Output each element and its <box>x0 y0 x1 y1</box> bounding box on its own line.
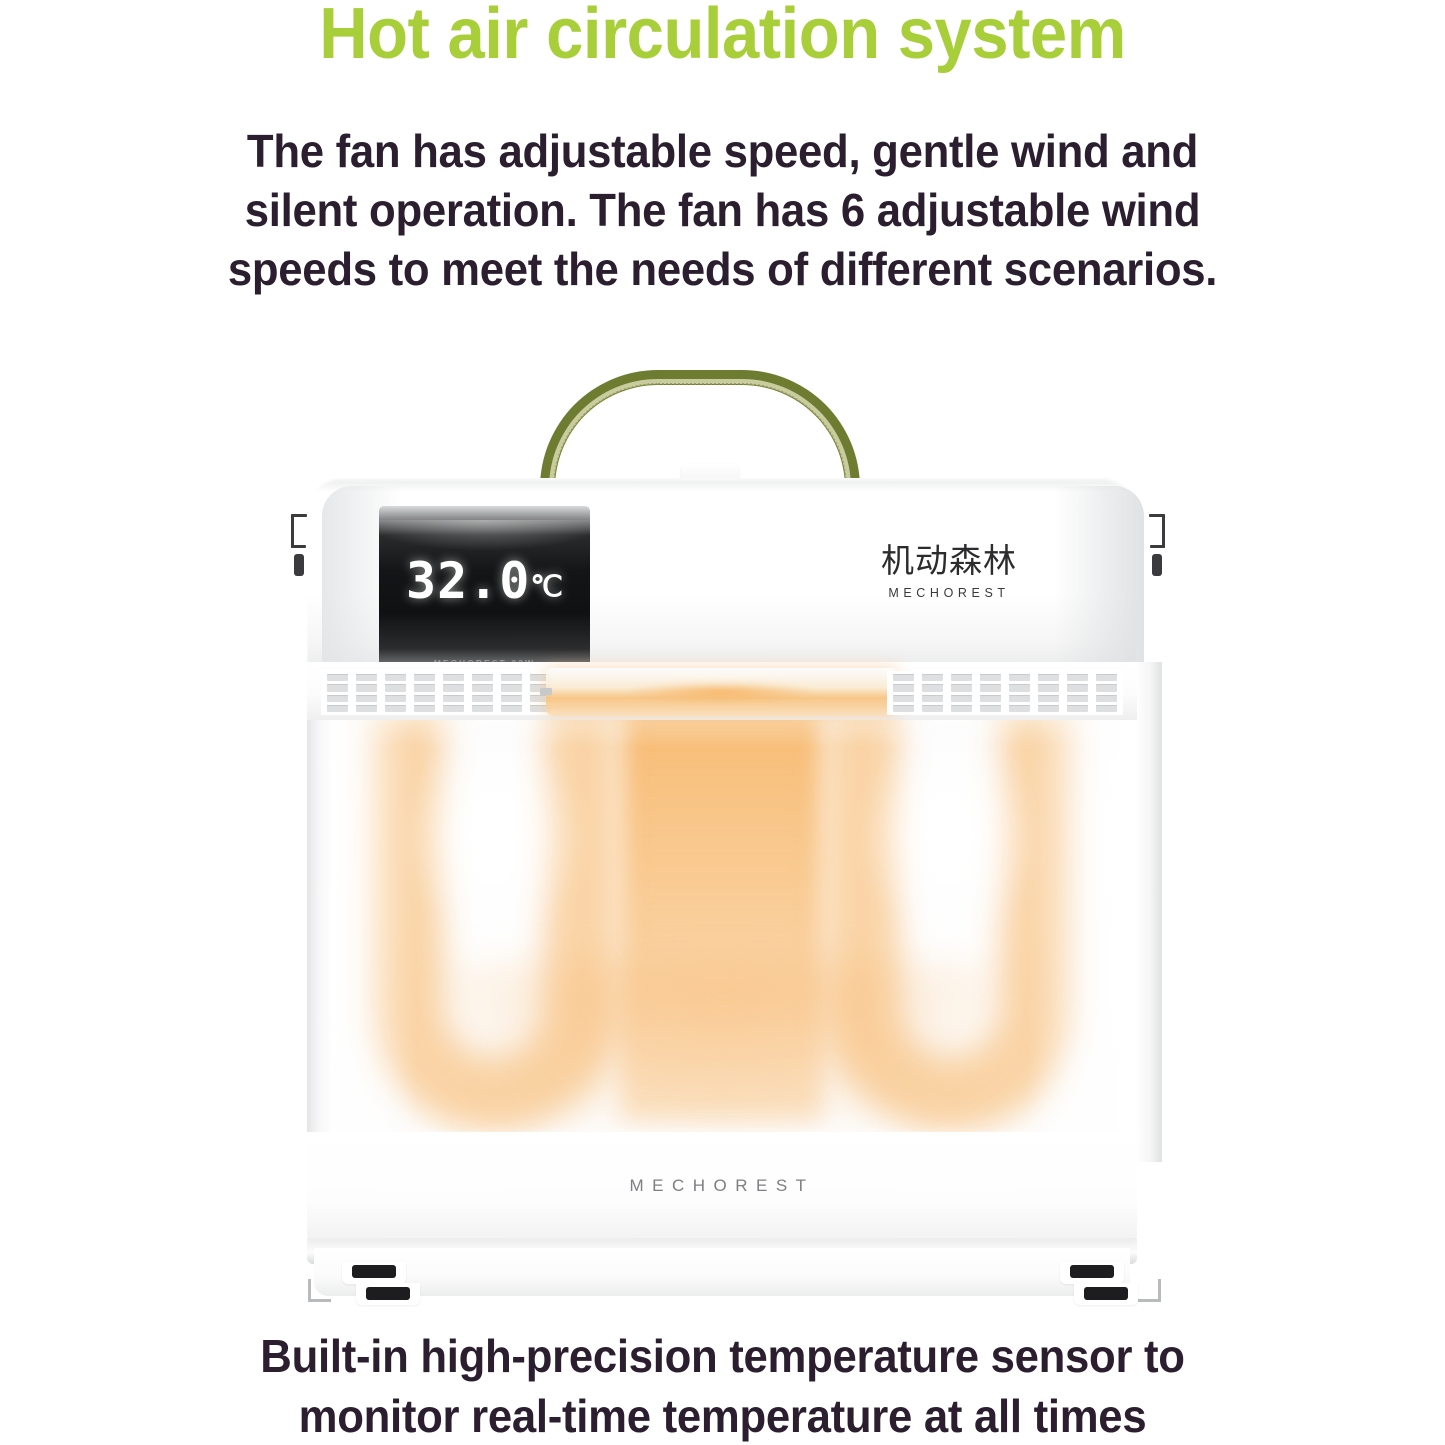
glass-edge-left <box>307 662 333 1162</box>
lower-front-panel: MECHOREST <box>307 1132 1137 1244</box>
airflow-lower-spread <box>392 962 1052 1152</box>
lid-highlight-right <box>1054 486 1144 670</box>
base-foot-back-left <box>352 1265 396 1278</box>
airflow-fade-right <box>1027 662 1137 1162</box>
subheading-line-3: speeds to meet the needs of different sc… <box>36 240 1409 299</box>
base-foot-front-left <box>366 1287 410 1300</box>
page-title: Hot air circulation system <box>51 0 1395 74</box>
vent-bar <box>307 662 1137 720</box>
footer-caption-line-2: monitor real-time temperature at all tim… <box>36 1387 1409 1445</box>
airflow-highlight-left <box>399 732 589 942</box>
lcd-display[interactable]: 32.0℃ MECHOREST 22W <box>379 506 590 678</box>
screen-glare <box>379 520 590 551</box>
bottom-brand-text: MECHOREST <box>307 1176 1137 1196</box>
temperature-unit: ℃ <box>530 569 563 603</box>
airflow-highlight-right <box>855 732 1045 942</box>
vent-grille-left <box>321 671 557 715</box>
side-clip-right <box>1148 514 1170 586</box>
temperature-value: 32.0 <box>406 552 530 610</box>
glass-corner-right <box>1138 1279 1161 1302</box>
subheading-line-2: silent operation. The fan has 6 adjustab… <box>36 181 1409 240</box>
brand-badge: 机动森林 MECHOREST <box>854 544 1044 600</box>
hot-air-outlet <box>546 668 898 716</box>
footer-caption-line-1: Built-in high-precision temperature sens… <box>36 1327 1409 1387</box>
brand-name-cn: 机动森林 <box>854 544 1044 577</box>
vent-grille-right <box>887 671 1123 715</box>
footer-caption-block: Built-in high-precision temperature sens… <box>36 1327 1409 1445</box>
subheading-block: The fan has adjustable speed, gentle win… <box>36 122 1409 299</box>
glass-chamber <box>307 662 1137 1162</box>
heating-element-glow <box>627 682 817 702</box>
airflow-visualization <box>307 662 1137 1162</box>
poster-canvas: Hot air circulation system The fan has a… <box>0 0 1445 1445</box>
brand-name-en: MECHOREST <box>854 586 1044 600</box>
side-clip-left <box>286 514 308 586</box>
outlet-pin-left <box>540 688 552 695</box>
device-base <box>314 1248 1130 1296</box>
subheading-line-1: The fan has adjustable speed, gentle win… <box>36 122 1409 181</box>
base-foot-front-right <box>1084 1287 1128 1300</box>
base-foot-back-right <box>1070 1265 1114 1278</box>
product-image: 32.0℃ MECHOREST 22W 机动森林 MECHOREST <box>262 362 1192 1302</box>
temperature-readout: 32.0℃ <box>379 552 590 610</box>
glass-edge-right <box>1136 662 1162 1162</box>
